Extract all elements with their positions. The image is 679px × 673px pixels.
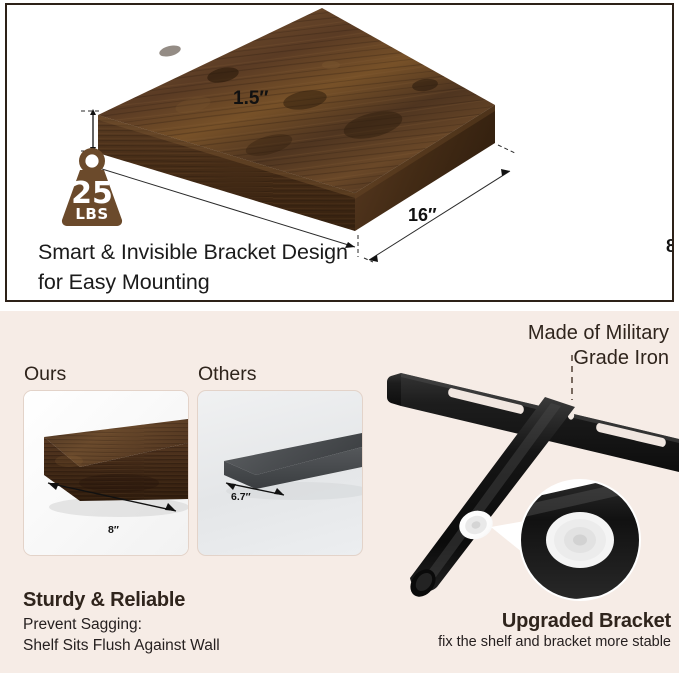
headline-line-2: for Easy Mounting — [38, 267, 438, 297]
sturdy-body-line-1: Prevent Sagging: — [23, 614, 220, 635]
ours-shelf-image — [24, 391, 188, 555]
military-title-line-1: Made of Military — [418, 321, 669, 346]
comparison-card-others: 6.7″ — [197, 390, 363, 556]
product-infographic: 1.5″ 16″ 8″ 25 LBS Smart & Invisible Bra… — [0, 0, 679, 673]
bracket-zoom-callout — [491, 473, 640, 607]
comparison-label-ours: Ours — [24, 363, 66, 386]
dimension-label-thickness: 1.5″ — [233, 88, 269, 110]
upgraded-bracket-subtitle: fix the shelf and bracket more stable — [330, 634, 679, 650]
top-headline: Smart & Invisible Bracket Design for Eas… — [38, 237, 438, 297]
sturdy-body-line-2: Shelf Sits Flush Against Wall — [23, 635, 220, 656]
bracket-svg — [375, 355, 679, 620]
others-shelf-image — [198, 391, 362, 555]
weight-icon: 25 LBS — [54, 144, 130, 228]
ours-dimension-label: 8″ — [108, 524, 119, 536]
bracket-illustration — [375, 355, 679, 620]
comparison-label-others: Others — [198, 363, 257, 386]
weight-capacity-badge: 25 LBS — [54, 144, 130, 228]
upgraded-bracket-title: Upgraded Bracket — [418, 609, 679, 633]
others-dimension-label: 6.7″ — [231, 491, 251, 503]
top-panel: 1.5″ 16″ 8″ 25 LBS Smart & Invisible Bra… — [5, 3, 674, 302]
sturdy-heading: Sturdy & Reliable — [23, 589, 185, 612]
dimension-label-depth: 8″ — [666, 236, 674, 257]
weight-unit: LBS — [75, 205, 108, 223]
sturdy-body: Prevent Sagging: Shelf Sits Flush Agains… — [23, 614, 220, 656]
headline-line-1: Smart & Invisible Bracket Design — [38, 237, 438, 267]
dimension-label-length: 16″ — [408, 205, 437, 226]
comparison-card-ours: 8″ — [23, 390, 189, 556]
